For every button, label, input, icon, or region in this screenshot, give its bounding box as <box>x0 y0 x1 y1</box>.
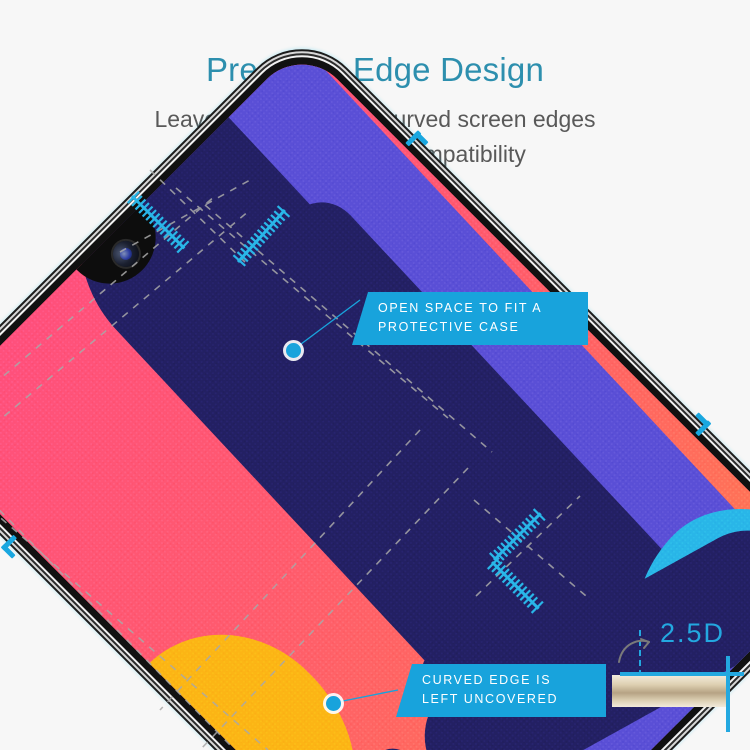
anchor-dot-open-space <box>286 343 301 358</box>
callout-curved-edge-line2: LEFT UNCOVERED <box>422 690 594 709</box>
callout-curved-edge-line1: CURVED EDGE IS <box>422 671 594 690</box>
callout-curved-edge: CURVED EDGE IS LEFT UNCOVERED <box>396 664 606 717</box>
anchor-dot-curved-edge <box>326 696 341 711</box>
callout-open-space-line2: PROTECTIVE CASE <box>378 318 576 337</box>
page-title: Precision Edge Design <box>0 53 750 86</box>
front-camera-icon <box>108 236 145 273</box>
edge-measure-vertical-line <box>726 656 730 732</box>
edge-profile-diagram: 2.5D <box>612 612 750 732</box>
callout-open-space-line1: OPEN SPACE TO FIT A <box>378 299 576 318</box>
glass-edge-profile-bar <box>612 675 730 707</box>
curve-arrow-icon <box>616 634 656 668</box>
callout-open-space: OPEN SPACE TO FIT A PROTECTIVE CASE <box>352 292 588 345</box>
edge-radius-label: 2.5D <box>660 620 725 647</box>
product-feature-graphic: Precision Edge Design Leaves Mobile Phon… <box>0 0 750 750</box>
